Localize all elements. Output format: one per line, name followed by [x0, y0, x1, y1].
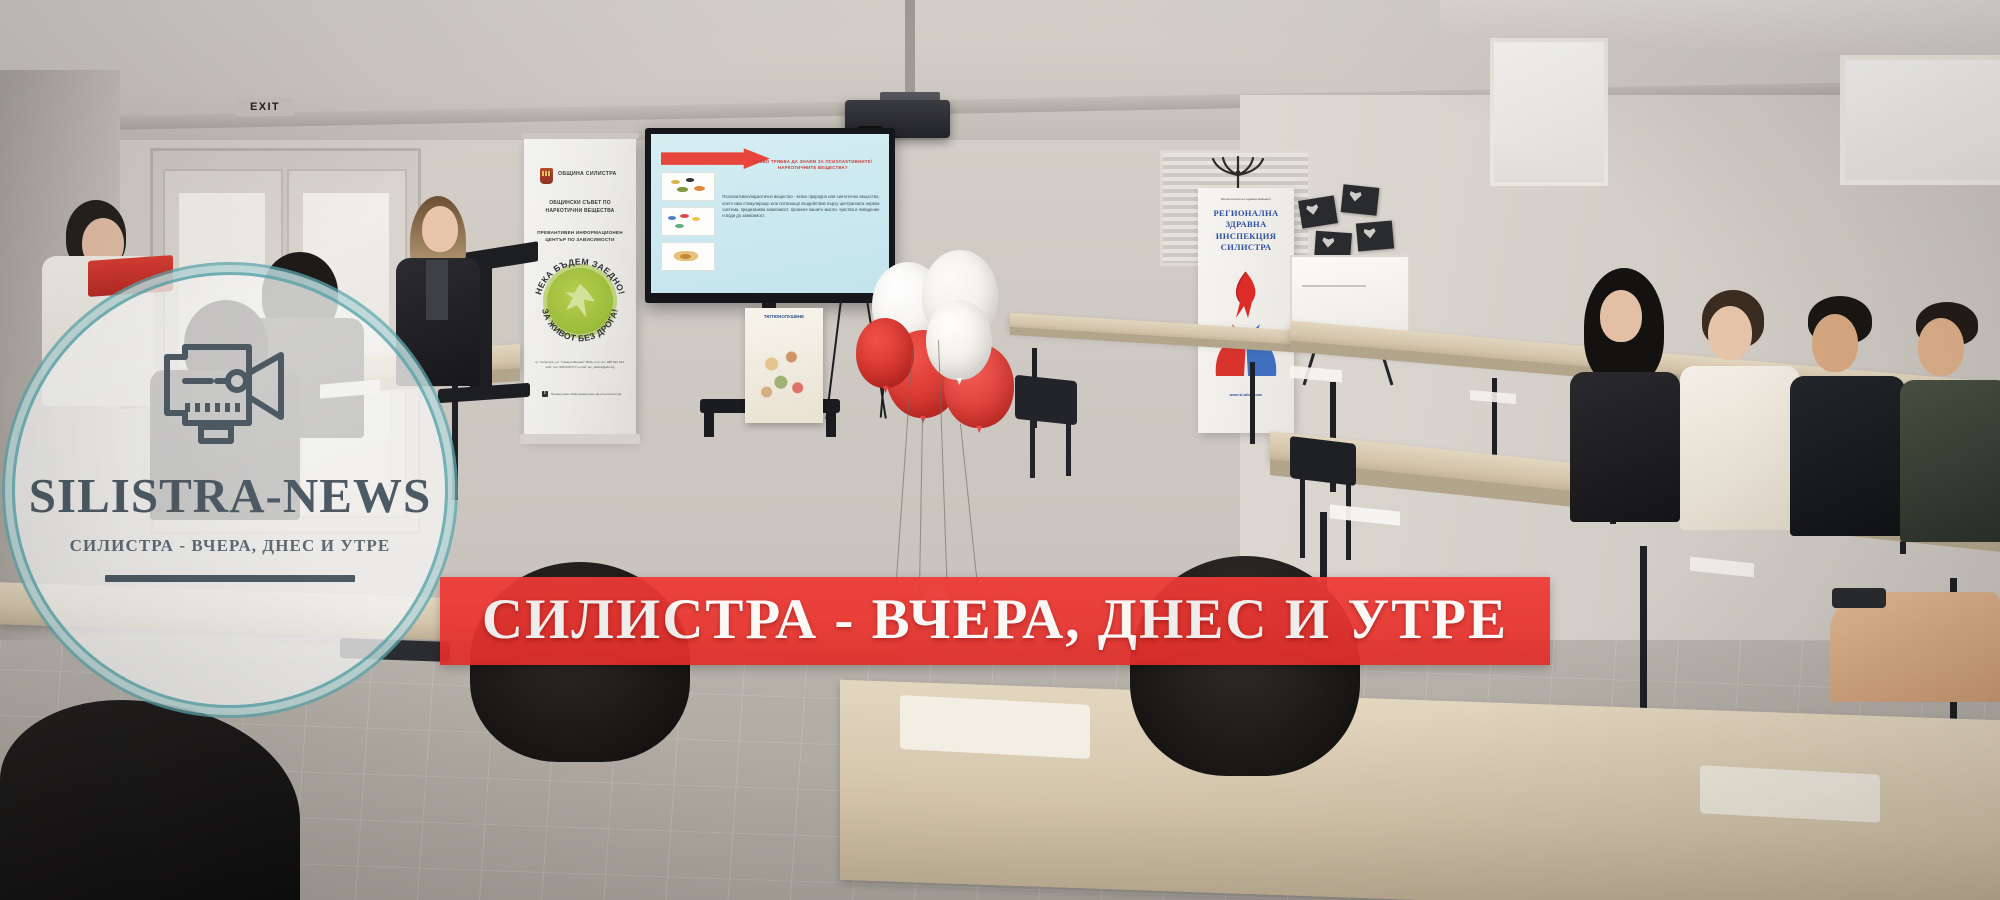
- rzi-ministry-line: Министерство на здравеопазването: [1204, 198, 1288, 202]
- presentation-slide: КАКВО ТРЯБВА ДА ЗНАЕМ ЗА ПСИХОАКТИВНИТЕ/…: [651, 134, 889, 293]
- rollup-logo-ring-text: НЕКА БЪДЕМ ЗАЕДНО! ЗА ЖИВОТ БЕЗ ДРОГА!: [532, 253, 628, 349]
- poster-illustration: [753, 336, 815, 406]
- watermark-subtitle: СИЛИСТРА - ВЧЕРА, ДНЕС И УТРЕ: [15, 537, 445, 554]
- coat-rack-hook-icon: [1205, 155, 1271, 191]
- rollup-organization: ОБЩИНА СИЛИСТРА: [558, 171, 630, 177]
- window-far-right: [1840, 55, 2000, 185]
- plastic-sleeve: [1700, 765, 1880, 822]
- chair-leg: [1066, 420, 1071, 476]
- wall-photo: [1356, 220, 1394, 251]
- exit-sign: EXIT: [236, 98, 294, 116]
- slide-thumbnail-pills: [661, 172, 715, 201]
- rollup-contact: гр. Силистра, ул. "Симеон Велики" №33, е…: [534, 360, 626, 370]
- watermark-divider: [105, 575, 355, 582]
- head: [1812, 314, 1858, 372]
- chair-leg: [1346, 482, 1351, 560]
- chair-leg: [1030, 418, 1035, 478]
- person-student-right-1: [1570, 268, 1680, 518]
- person-student-right-3: [1790, 296, 1905, 536]
- window-right: [1490, 38, 1608, 186]
- slide-thumbnail-medicine: [661, 207, 715, 236]
- svg-text:НЕКА БЪДЕМ ЗАЕДНО!: НЕКА БЪДЕМ ЗАЕДНО!: [533, 256, 627, 295]
- person-student-right-2: [1680, 290, 1800, 530]
- chair-leg: [1300, 478, 1305, 558]
- rollup-base: [520, 434, 640, 444]
- torso: [1900, 380, 2000, 542]
- table-leg: [1492, 378, 1497, 462]
- news-banner-overlay: СИЛИСТРА - ВЧЕРА, ДНЕС И УТРЕ: [440, 577, 1550, 665]
- rzi-poster: Министерство на здравеопазването РЕГИОНА…: [1198, 188, 1294, 433]
- rzi-title: РЕГИОНАЛНА ЗДРАВНА ИНСПЕКЦИЯ СИЛИСТРА: [1202, 208, 1290, 253]
- wall-photo: [1341, 184, 1380, 216]
- info-poster-stand: ТЮТЮНОПУШЕНЕ: [745, 308, 823, 423]
- torso-hoodie: [1680, 366, 1800, 530]
- movie-camera-icon: [145, 331, 315, 459]
- wall-photo: [1298, 195, 1338, 228]
- wristwatch: [1832, 588, 1886, 608]
- facebook-icon: f: [542, 391, 548, 397]
- head: [1708, 306, 1752, 360]
- balloon-white: [926, 300, 992, 380]
- interactive-display: КАКВО ТРЯБВА ДА ЗНАЕМ ЗА ПСИХОАКТИВНИТЕ/…: [645, 128, 895, 303]
- torso: [1570, 372, 1680, 522]
- plastic-sleeve: [900, 695, 1090, 759]
- rollup-banner-municipality: ОБЩИНА СИЛИСТРА ОБЩИНСКИ СЪВЕТ ПО НАРКОТ…: [524, 138, 636, 438]
- news-banner-text: СИЛИСТРА - ВЧЕРА, ДНЕС И УТРЕ: [440, 586, 1550, 654]
- silistra-coat-of-arms-icon: [540, 168, 553, 184]
- logo-top-text: НЕКА БЪДЕМ ЗАЕДНО!: [533, 256, 627, 295]
- stand-foot-left: [704, 411, 714, 437]
- rollup-top-rail: [521, 133, 639, 139]
- torso: [1790, 376, 1905, 536]
- photo-canvas: EXIT КАКВО ТРЯБВА ДА ЗНАЕМ ЗА ПСИХОАКТИВ…: [0, 0, 2000, 900]
- exit-sign-label: EXIT: [250, 102, 280, 113]
- rollup-line2: ПРЕВАНТИВЕН ИНФОРМАЦИОНЕН ЦЕНТЪР ПО ЗАВИ…: [530, 230, 630, 244]
- table-leg: [1250, 362, 1255, 444]
- balloon-red: [856, 318, 914, 388]
- head: [1600, 290, 1642, 342]
- slide-body-text: Психоактивно/наркотично вещество - всяко…: [722, 194, 879, 219]
- slide-title: КАКВО ТРЯБВА ДА ЗНАЕМ ЗА ПСИХОАКТИВНИТЕ/…: [741, 159, 884, 171]
- rollup-facebook-page: Превантивен Информационен Център Силистр…: [551, 391, 629, 397]
- chair: [1015, 375, 1077, 426]
- shirt: [426, 260, 448, 320]
- rollup-line1: ОБЩИНСКИ СЪВЕТ ПО НАРКОТИЧНИ ВЕЩЕСТВА: [532, 200, 628, 215]
- watermark-title: SILISTRA-NEWS: [15, 471, 445, 520]
- svg-text:ЗА ЖИВОТ БЕЗ ДРОГА!: ЗА ЖИВОТ БЕЗ ДРОГА!: [540, 307, 620, 343]
- slide-thumbnail-food: [661, 242, 715, 271]
- person-arm-foreground-right: [1830, 592, 2000, 702]
- silistra-news-watermark: SILISTRA-NEWS СИЛИСТРА - ВЧЕРА, ДНЕС И У…: [12, 272, 448, 708]
- whiteboard-marking: [1302, 285, 1366, 287]
- projector-mount: [905, 0, 915, 105]
- head: [1918, 318, 1964, 376]
- table-leg: [1640, 546, 1647, 714]
- rzi-url: www.rzi-silistra.com: [1202, 393, 1290, 397]
- poster-heading: ТЮТЮНОПУШЕНЕ: [751, 314, 817, 320]
- logo-bottom-text: ЗА ЖИВОТ БЕЗ ДРОГА!: [540, 307, 620, 343]
- head: [422, 206, 458, 252]
- person-student-right-4: [1900, 302, 2000, 542]
